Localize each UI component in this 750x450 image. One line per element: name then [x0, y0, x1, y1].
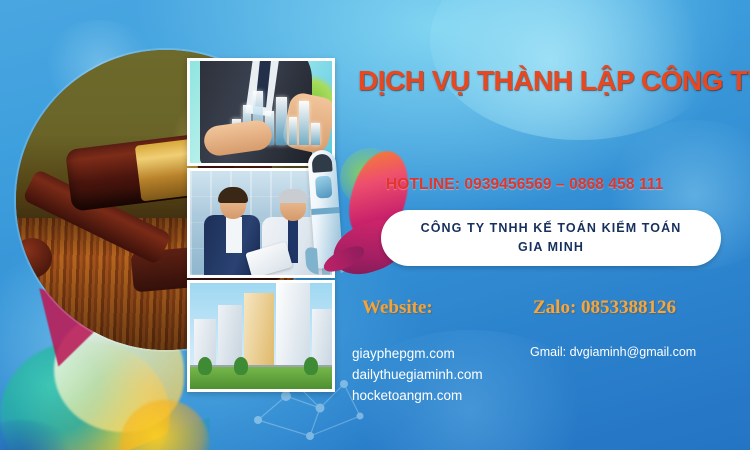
photo-two-businessmen: [187, 168, 335, 278]
photo2-man2-hair: [278, 189, 308, 203]
website-label: Website:: [362, 297, 433, 319]
banner-title: DỊCH VỤ THÀNH LẬP CÔNG TY: [358, 66, 730, 95]
website-link-1[interactable]: giayphepgm.com: [352, 344, 542, 365]
promo-banner: DỊCH VỤ THÀNH LẬP CÔNG TY HOTLINE: 09394…: [0, 0, 750, 450]
company-name-badge: CÔNG TY TNHH KẾ TOÁN KIỂM TOÁN GIA MINH: [381, 210, 721, 266]
abstract-globe-shape: [0, 340, 170, 450]
photo2-man1-shirt: [226, 217, 242, 253]
zalo-contact: Zalo: 0853388126: [533, 297, 676, 319]
website-link-2[interactable]: dailythuegiaminh.com: [352, 365, 542, 386]
abstract-teal-wedge: [90, 396, 210, 450]
photo2-man1-hair: [218, 187, 248, 203]
rocket-fin-right: [339, 242, 353, 273]
abstract-yellow-glow: [120, 400, 210, 450]
photo3-building-4: [276, 280, 310, 367]
photo-apartment-buildings: [187, 280, 335, 392]
abstract-blue-blob: [0, 420, 80, 450]
photo3-tree-2: [234, 357, 248, 375]
company-name-line-2: GIA MINH: [518, 238, 584, 257]
hotline-text: HOTLINE: 0939456569 – 0868 458 111: [386, 176, 726, 194]
photo3-tree-3: [304, 357, 318, 375]
photo3-building-3: [244, 293, 274, 367]
company-name-line-1: CÔNG TY TNHH KẾ TOÁN KIỂM TOÁN: [421, 219, 682, 238]
photo3-tree-1: [198, 357, 212, 375]
website-list: giayphepgm.com dailythuegiaminh.com hock…: [352, 344, 542, 407]
gmail-contact[interactable]: Gmail: dvgiaminh@gmail.com: [530, 345, 696, 359]
photo-businessman-city: [187, 58, 335, 166]
website-link-3[interactable]: hocketoangm.com: [352, 386, 542, 407]
